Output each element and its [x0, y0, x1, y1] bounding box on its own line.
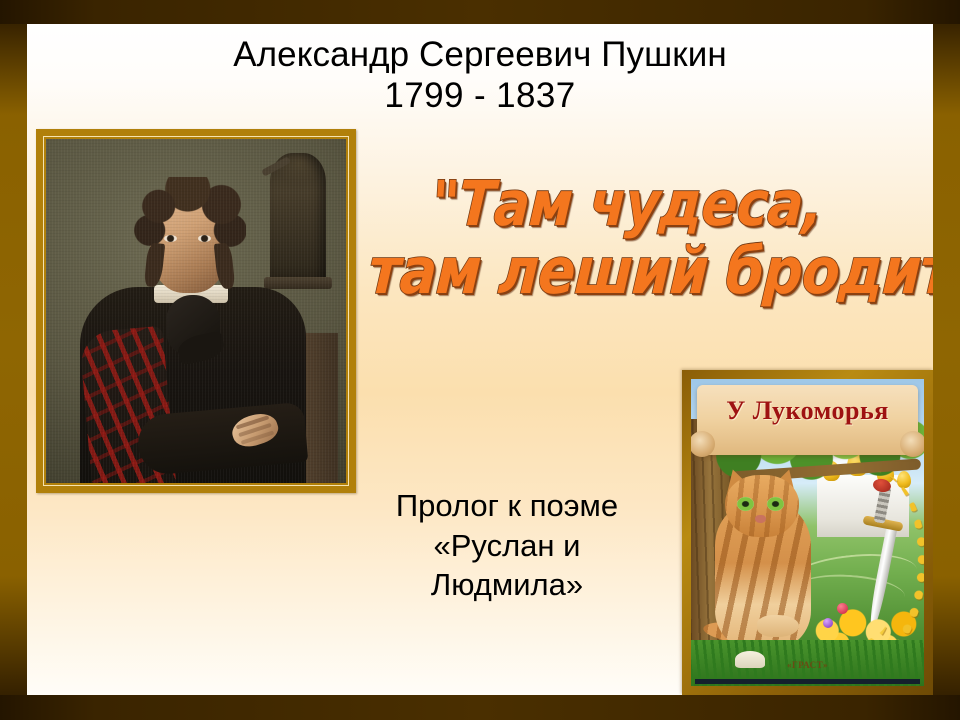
- caption-line-3: Людмила»: [307, 565, 707, 605]
- caption-line-2: «Руслан и: [307, 526, 707, 566]
- pushkin-portrait-image: [46, 139, 346, 483]
- title-author-name: Александр Сергеевич Пушкин: [27, 34, 933, 75]
- wordart-quote: "Там чудеса, там леший бродит...": [327, 174, 927, 303]
- frame-right-edge: [933, 0, 960, 720]
- portrait-eye-left: [164, 235, 177, 242]
- book-title-text: У Лукоморья: [691, 396, 924, 426]
- book-cat-eye-right: [767, 497, 784, 511]
- book-cover-image: У Лукоморья «ГРАСТ»: [691, 379, 924, 686]
- title-lifespan-years: 1799 - 1837: [27, 75, 933, 116]
- frame-bottom-edge: [0, 695, 960, 720]
- portrait-eye-right: [198, 235, 211, 242]
- book-cover-frame: У Лукоморья «ГРАСТ»: [682, 370, 933, 695]
- wordart-line-2: там леший бродит...": [367, 241, 887, 304]
- book-cat-head: [725, 475, 799, 537]
- wordart-line-1: "Там чудеса,: [367, 174, 887, 235]
- frame-top-edge: [0, 0, 960, 24]
- subtitle-caption: Пролог к поэме «Руслан и Людмила»: [307, 486, 707, 605]
- book-spine-edge: [695, 679, 920, 684]
- page-title: Александр Сергеевич Пушкин 1799 - 1837: [27, 34, 933, 117]
- book-cat-eye-left: [737, 497, 754, 511]
- book-cat-paw: [757, 615, 799, 637]
- pushkin-portrait-frame: [36, 129, 356, 493]
- book-publisher-mark: «ГРАСТ»: [691, 660, 924, 670]
- slide-outer-frame: Александр Сергеевич Пушкин 1799 - 1837: [0, 0, 960, 720]
- caption-line-1: Пролог к поэме: [307, 486, 707, 526]
- slide-canvas: Александр Сергеевич Пушкин 1799 - 1837: [27, 24, 933, 695]
- portrait-statue-base: [264, 277, 332, 289]
- portrait-muse-statue: [270, 153, 326, 285]
- book-cat-nose: [755, 515, 766, 523]
- frame-left-edge: [0, 0, 27, 720]
